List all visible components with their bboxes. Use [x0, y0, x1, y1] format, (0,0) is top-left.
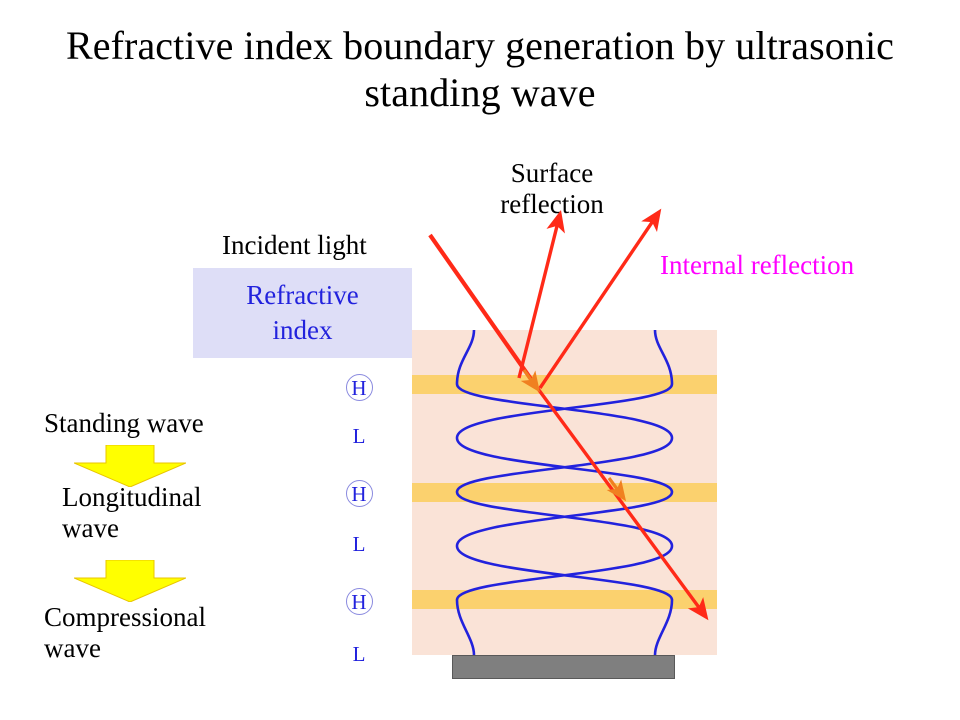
label-compressional-wave: Compressional wave: [44, 602, 294, 664]
ultrasonic-transducer: [452, 655, 675, 679]
slide-canvas: Refractive index boundary generation by …: [0, 0, 960, 720]
refractive-index-box: Refractive index: [193, 268, 412, 358]
index-marker-h-3: H: [336, 588, 382, 615]
page-title: Refractive index boundary generation by …: [0, 22, 960, 116]
index-column: H L H L H L: [336, 366, 382, 666]
label-internal-reflection: Internal reflection: [660, 250, 854, 281]
down-block-arrow-icon-1: [74, 445, 186, 487]
down-block-arrow-icon-2: [74, 560, 186, 602]
index-marker-l-1: L: [336, 423, 382, 450]
label-incident-light: Incident light: [222, 230, 367, 261]
index-marker-h-1: H: [336, 374, 382, 401]
label-longitudinal-wave: Longitudinal wave: [62, 482, 292, 544]
acoustic-medium-cell: [412, 330, 717, 655]
index-marker-l-2: L: [336, 531, 382, 558]
label-surface-reflection: Surface reflection: [462, 158, 642, 220]
index-marker-h-2: H: [336, 480, 382, 507]
label-standing-wave: Standing wave: [44, 408, 204, 439]
index-marker-l-3: L: [336, 641, 382, 668]
standing-wave-curves: [412, 330, 717, 655]
